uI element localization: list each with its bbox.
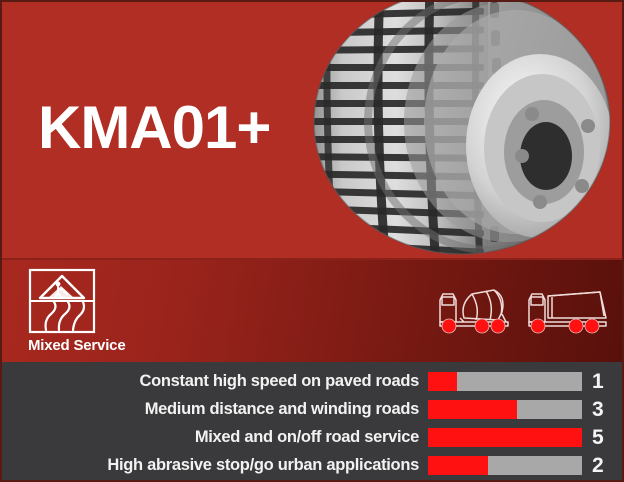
rating-bar	[428, 428, 582, 447]
rating-bar-fill	[428, 400, 517, 419]
product-poster: KMA01+	[0, 0, 624, 482]
rating-row: Mixed and on/off road service 5	[2, 423, 624, 451]
dump-truck-icon	[526, 282, 610, 336]
hero-section: KMA01+	[2, 2, 624, 258]
mixed-service-badge: Mixed Service	[28, 268, 158, 354]
ratings-panel: Constant high speed on paved roads 1 Med…	[2, 362, 624, 482]
rating-row: Constant high speed on paved roads 1	[2, 367, 624, 395]
page-title: KMA01+	[38, 98, 270, 158]
rating-row: Medium distance and winding roads 3	[2, 395, 624, 423]
rating-label: Mixed and on/off road service	[2, 428, 428, 447]
rating-bar-fill	[428, 372, 457, 391]
rating-label: High abrasive stop/go urban applications	[2, 456, 428, 475]
rating-bar	[428, 372, 582, 391]
rating-label: Medium distance and winding roads	[2, 400, 428, 419]
rating-row: High abrasive stop/go urban applications…	[2, 451, 624, 479]
rating-score: 5	[582, 427, 624, 448]
mixed-service-icon	[28, 268, 96, 334]
winding-road-icon	[46, 302, 84, 330]
rating-score: 1	[582, 371, 624, 392]
rating-bar	[428, 456, 582, 475]
rating-label: Constant high speed on paved roads	[2, 372, 428, 391]
roadworks-triangle-icon	[40, 276, 84, 298]
vehicle-icons	[436, 282, 610, 336]
rating-score: 3	[582, 399, 624, 420]
rating-score: 2	[582, 455, 624, 476]
service-band: Mixed Service	[2, 258, 624, 362]
rating-bar-fill	[428, 428, 582, 447]
rating-bar	[428, 400, 582, 419]
tire-illustration: KMA 01	[294, 2, 624, 258]
tire-product-image: KMA 01	[294, 2, 624, 258]
cement-mixer-truck-icon	[436, 282, 516, 336]
badge-label: Mixed Service	[28, 337, 158, 354]
rating-bar-fill	[428, 456, 488, 475]
